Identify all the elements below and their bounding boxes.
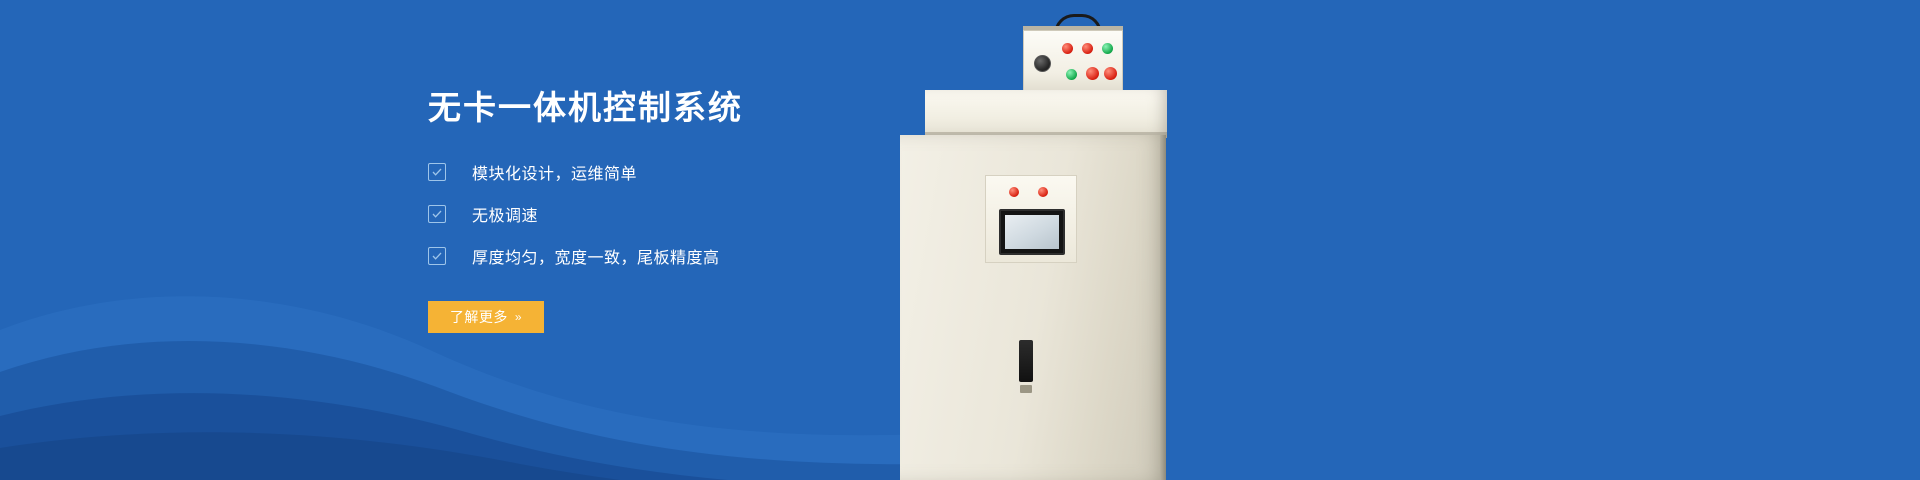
list-item-label: 模块化设计，运维简单: [472, 160, 637, 184]
checkbox-check-icon: [428, 163, 446, 181]
touchscreen-glass: [1005, 215, 1059, 249]
touchscreen-panel: [999, 209, 1065, 255]
indicator-lamp-green: [1102, 43, 1113, 54]
indicator-lamp-red: [1082, 43, 1093, 54]
checkbox-check-icon: [428, 205, 446, 223]
learn-more-button[interactable]: 了解更多 »: [428, 301, 544, 333]
hmi-indicator-lamp-red: [1038, 187, 1048, 197]
hmi-indicator-lamp-red: [1009, 187, 1019, 197]
card-slot-base: [1020, 385, 1032, 393]
indicator-lamp-red: [1104, 67, 1117, 80]
selector-knob: [1034, 55, 1051, 72]
indicator-lamp-red: [1062, 43, 1073, 54]
upper-control-box: [1023, 30, 1123, 92]
checkbox-check-icon: [428, 247, 446, 265]
list-item-label: 厚度均匀，宽度一致，尾板精度高: [472, 244, 720, 268]
indicator-lamp-green: [1066, 69, 1077, 80]
control-cabinet-photo: [900, 0, 1200, 480]
indicator-lamp-red: [1086, 67, 1099, 80]
chevron-right-icon: »: [515, 310, 522, 324]
hero-banner: 无卡一体机控制系统 模块化设计，运维简单 无极调速: [0, 0, 1920, 480]
learn-more-label: 了解更多: [450, 307, 508, 327]
cabinet-door-seam: [1160, 135, 1166, 480]
card-slot: [1019, 340, 1033, 382]
cabinet-top-cap: [925, 90, 1167, 138]
list-item-label: 无极调速: [472, 202, 538, 226]
